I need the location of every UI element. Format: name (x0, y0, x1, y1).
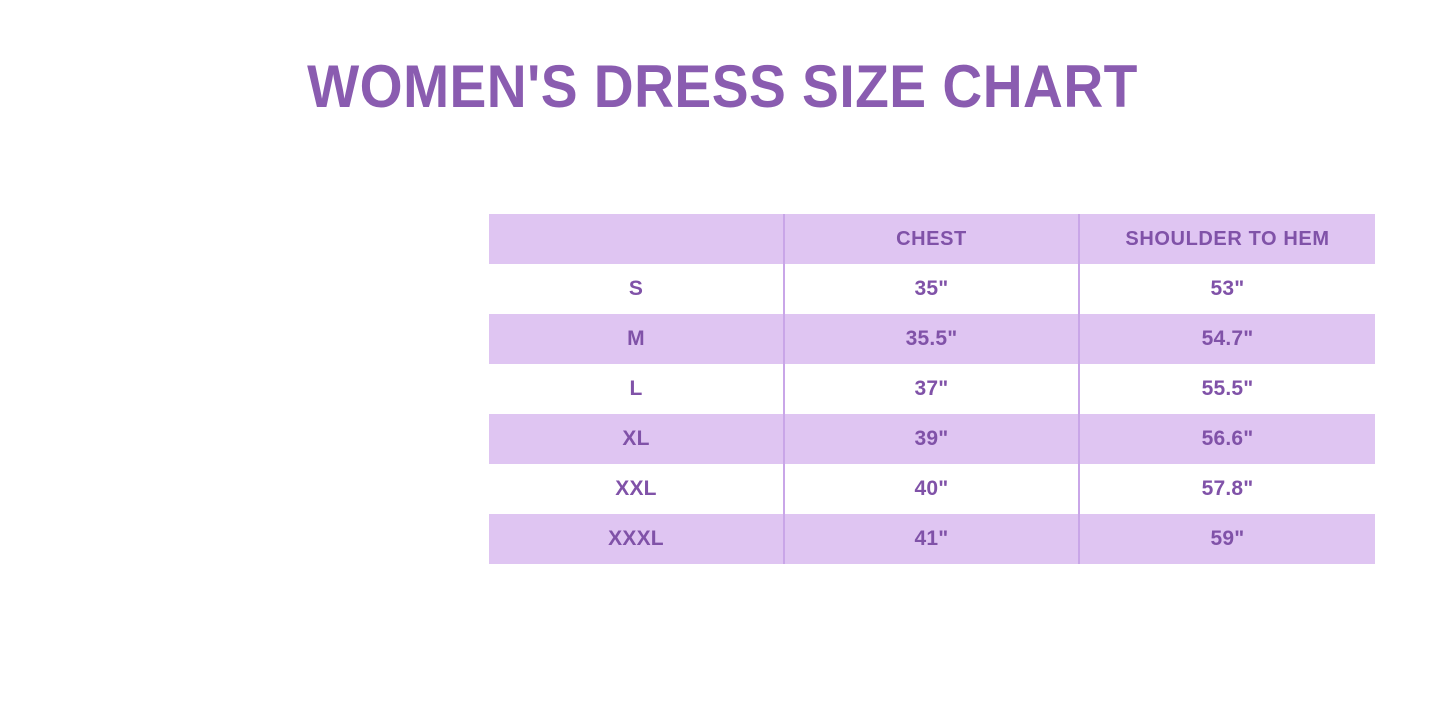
cell-chest: 35.5" (784, 314, 1079, 364)
table-row: XXXL 41" 59" (489, 514, 1375, 564)
table-header-row: CHEST SHOULDER TO HEM (489, 214, 1375, 264)
cell-size: M (489, 314, 784, 364)
table-row: M 35.5" 54.7" (489, 314, 1375, 364)
cell-shoulder-to-hem: 53" (1079, 264, 1375, 314)
size-chart-page: WOMEN'S DRESS SIZE CHART CHEST SHOULDER … (0, 0, 1445, 723)
cell-size: XXL (489, 464, 784, 514)
table-header: CHEST SHOULDER TO HEM (489, 214, 1375, 264)
size-chart-table: CHEST SHOULDER TO HEM S 35" 53" M 35.5" … (489, 214, 1375, 564)
cell-shoulder-to-hem: 54.7" (1079, 314, 1375, 364)
cell-shoulder-to-hem: 56.6" (1079, 414, 1375, 464)
cell-size: XXXL (489, 514, 784, 564)
cell-chest: 35" (784, 264, 1079, 314)
table-row: XL 39" 56.6" (489, 414, 1375, 464)
column-header-chest: CHEST (784, 214, 1079, 264)
cell-chest: 40" (784, 464, 1079, 514)
cell-size: S (489, 264, 784, 314)
cell-shoulder-to-hem: 57.8" (1079, 464, 1375, 514)
cell-chest: 41" (784, 514, 1079, 564)
cell-size: XL (489, 414, 784, 464)
column-header-shoulder-to-hem: SHOULDER TO HEM (1079, 214, 1375, 264)
cell-chest: 37" (784, 364, 1079, 414)
cell-size: L (489, 364, 784, 414)
page-title: WOMEN'S DRESS SIZE CHART (58, 52, 1387, 121)
table-row: S 35" 53" (489, 264, 1375, 314)
cell-shoulder-to-hem: 59" (1079, 514, 1375, 564)
table-row: XXL 40" 57.8" (489, 464, 1375, 514)
column-header-size (489, 214, 784, 264)
table-row: L 37" 55.5" (489, 364, 1375, 414)
cell-chest: 39" (784, 414, 1079, 464)
table-body: S 35" 53" M 35.5" 54.7" L 37" 55.5" XL 3… (489, 264, 1375, 564)
cell-shoulder-to-hem: 55.5" (1079, 364, 1375, 414)
